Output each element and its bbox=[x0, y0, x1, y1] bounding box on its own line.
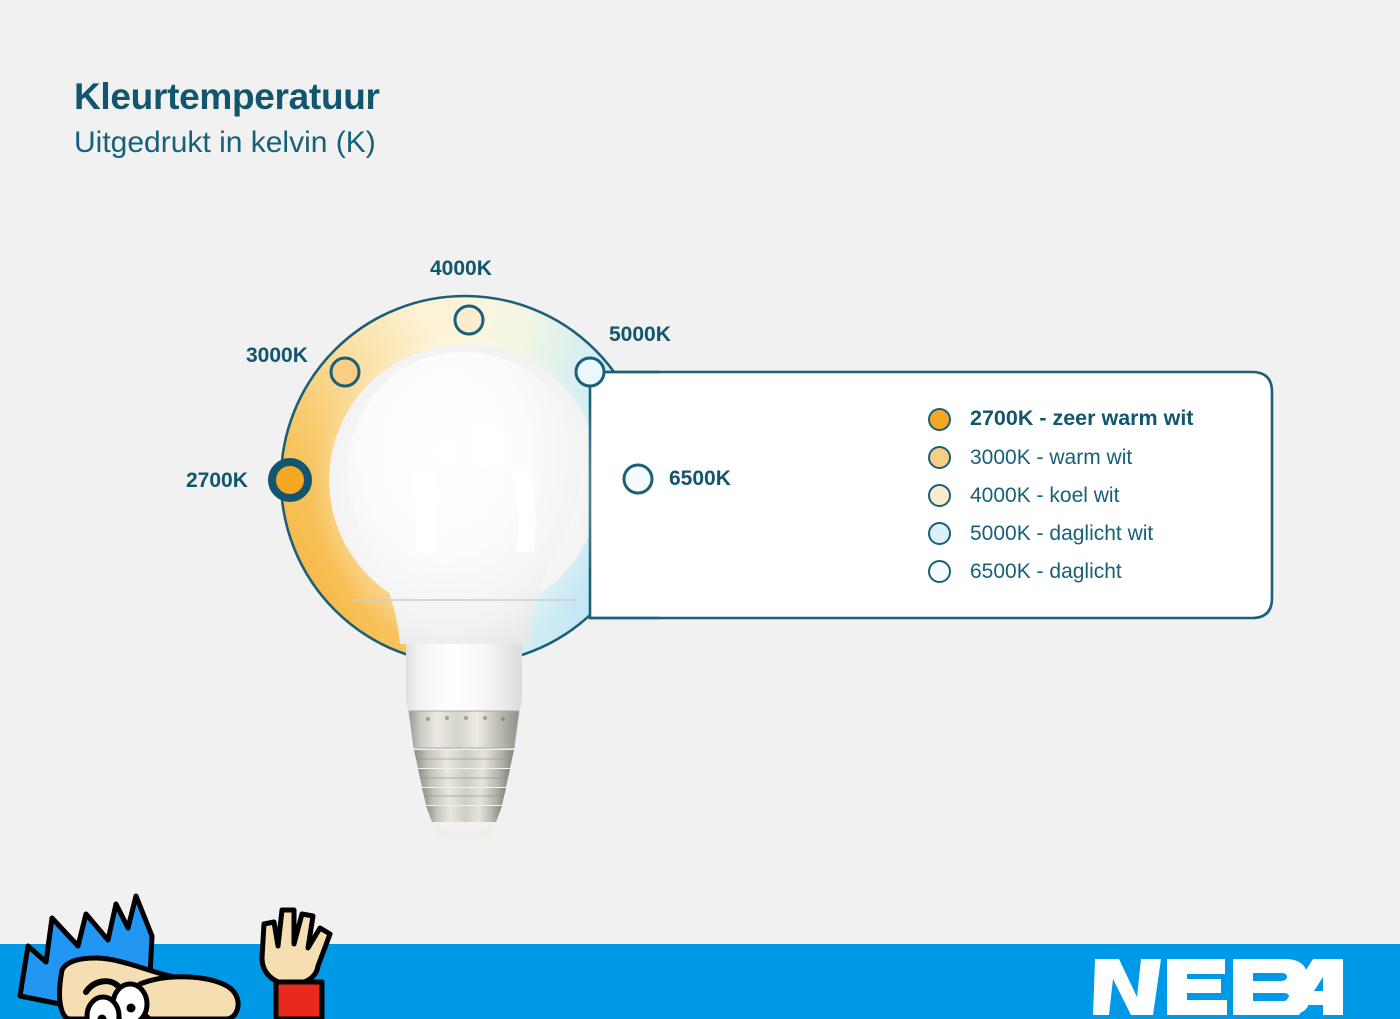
legend-label-5000k: 5000K - daglicht wit bbox=[970, 523, 1153, 544]
ring-label-4000k: 4000K bbox=[430, 258, 492, 279]
mascot-pupil-right bbox=[127, 1004, 136, 1013]
legend-list: 2700K - zeer warm wit 3000K - warm wit 4… bbox=[928, 404, 1193, 586]
legend-dot-4000k bbox=[928, 484, 951, 507]
bulb-cap-collar bbox=[409, 711, 519, 748]
legend-dot-6500k bbox=[928, 560, 951, 583]
legend-item-3000k[interactable]: 3000K - warm wit bbox=[928, 442, 1193, 472]
legend-item-5000k[interactable]: 5000K - daglicht wit bbox=[928, 518, 1193, 548]
legend-dot-2700k bbox=[928, 408, 951, 431]
bulb-highlight-top bbox=[470, 424, 504, 466]
legend-label-4000k: 4000K - koel wit bbox=[970, 485, 1119, 506]
ring-label-2700k: 2700K bbox=[186, 470, 248, 491]
legend-label-2700k: 2700K - zeer warm wit bbox=[970, 408, 1193, 430]
legend-item-6500k[interactable]: 6500K - daglicht bbox=[928, 556, 1193, 586]
marker-2700k[interactable] bbox=[272, 462, 308, 498]
weba-logo bbox=[1093, 955, 1343, 1019]
marker-3000k[interactable] bbox=[331, 358, 359, 386]
legend-dot-5000k bbox=[928, 522, 951, 545]
marker-6500k[interactable] bbox=[624, 465, 652, 493]
legend-item-2700k[interactable]: 2700K - zeer warm wit bbox=[928, 404, 1193, 434]
mascot-hand bbox=[262, 910, 330, 984]
legend-label-6500k: 6500K - daglicht bbox=[970, 561, 1122, 582]
color-temperature-diagram: 2700K 3000K 4000K 5000K 6500K 2700K - ze… bbox=[0, 0, 1400, 1019]
ring-label-5000k: 5000K bbox=[609, 324, 671, 345]
mascot-sleeve bbox=[276, 982, 322, 1019]
mascot-illustration bbox=[0, 884, 360, 1019]
ring-label-3000k: 3000K bbox=[246, 345, 308, 366]
marker-5000k[interactable] bbox=[576, 358, 604, 386]
legend-item-4000k[interactable]: 4000K - koel wit bbox=[928, 480, 1193, 510]
bulb-base-tip bbox=[432, 823, 496, 842]
marker-4000k[interactable] bbox=[455, 306, 483, 334]
ring-label-6500k: 6500K bbox=[669, 468, 731, 489]
bulb-screw-threads bbox=[414, 750, 514, 822]
legend-label-3000k: 3000K - warm wit bbox=[970, 447, 1132, 468]
mascot-nose bbox=[136, 977, 238, 1019]
legend-dot-3000k bbox=[928, 446, 951, 469]
